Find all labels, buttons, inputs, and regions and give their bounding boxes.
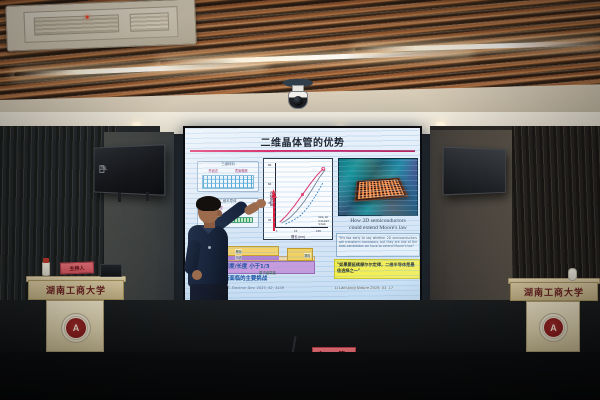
laptop-device: [100, 264, 122, 277]
emblem-ring: [64, 316, 88, 340]
presenter-pointing-hand: [256, 199, 266, 208]
ac-vent: [130, 13, 170, 32]
air-conditioner-unit: [5, 0, 197, 52]
presenter-shirt-detail: [208, 246, 211, 249]
presenter-hand: [192, 270, 202, 280]
podium-body: A: [526, 301, 580, 352]
host-nameplate: 主持人: [60, 261, 94, 274]
podium-nameboard: 湖南工商大学: [510, 282, 598, 301]
podium-body: A: [46, 300, 104, 352]
presenter-ear: [217, 210, 222, 217]
floor-foreground: [0, 352, 600, 400]
water-bottle: [42, 262, 50, 276]
ac-panel: [23, 6, 178, 43]
presenter-hair: [196, 196, 221, 211]
lecture-hall-photo: JBL 二维晶体管的优势 三维材料 界面态 表面粗糙 二维半导体 原子级平整 无: [0, 0, 600, 400]
podium-nameboard: 湖南工商大学: [28, 280, 124, 300]
wall-speaker-left: JBL: [94, 144, 166, 196]
speaker-bracket: [146, 192, 149, 201]
podium-name-text: 湖南工商大学: [29, 284, 123, 297]
university-emblem: A: [539, 313, 568, 342]
wall-speaker-right: [443, 147, 506, 196]
presenter: [186, 198, 248, 316]
ac-vent: [34, 14, 120, 36]
speaker-bracket: [118, 192, 121, 202]
speaker-brand-label: JBL: [99, 166, 104, 174]
podium-right: 湖南工商大学 A: [506, 266, 600, 352]
water-bottle: [568, 268, 577, 281]
podium-left: 湖南工商大学 A 主持人: [24, 266, 128, 352]
emblem-ring: [542, 316, 565, 339]
podium-name-text: 湖南工商大学: [511, 285, 597, 298]
university-emblem: A: [61, 313, 91, 343]
camera-lens-icon: [293, 96, 303, 106]
bottle-cap: [43, 258, 49, 263]
